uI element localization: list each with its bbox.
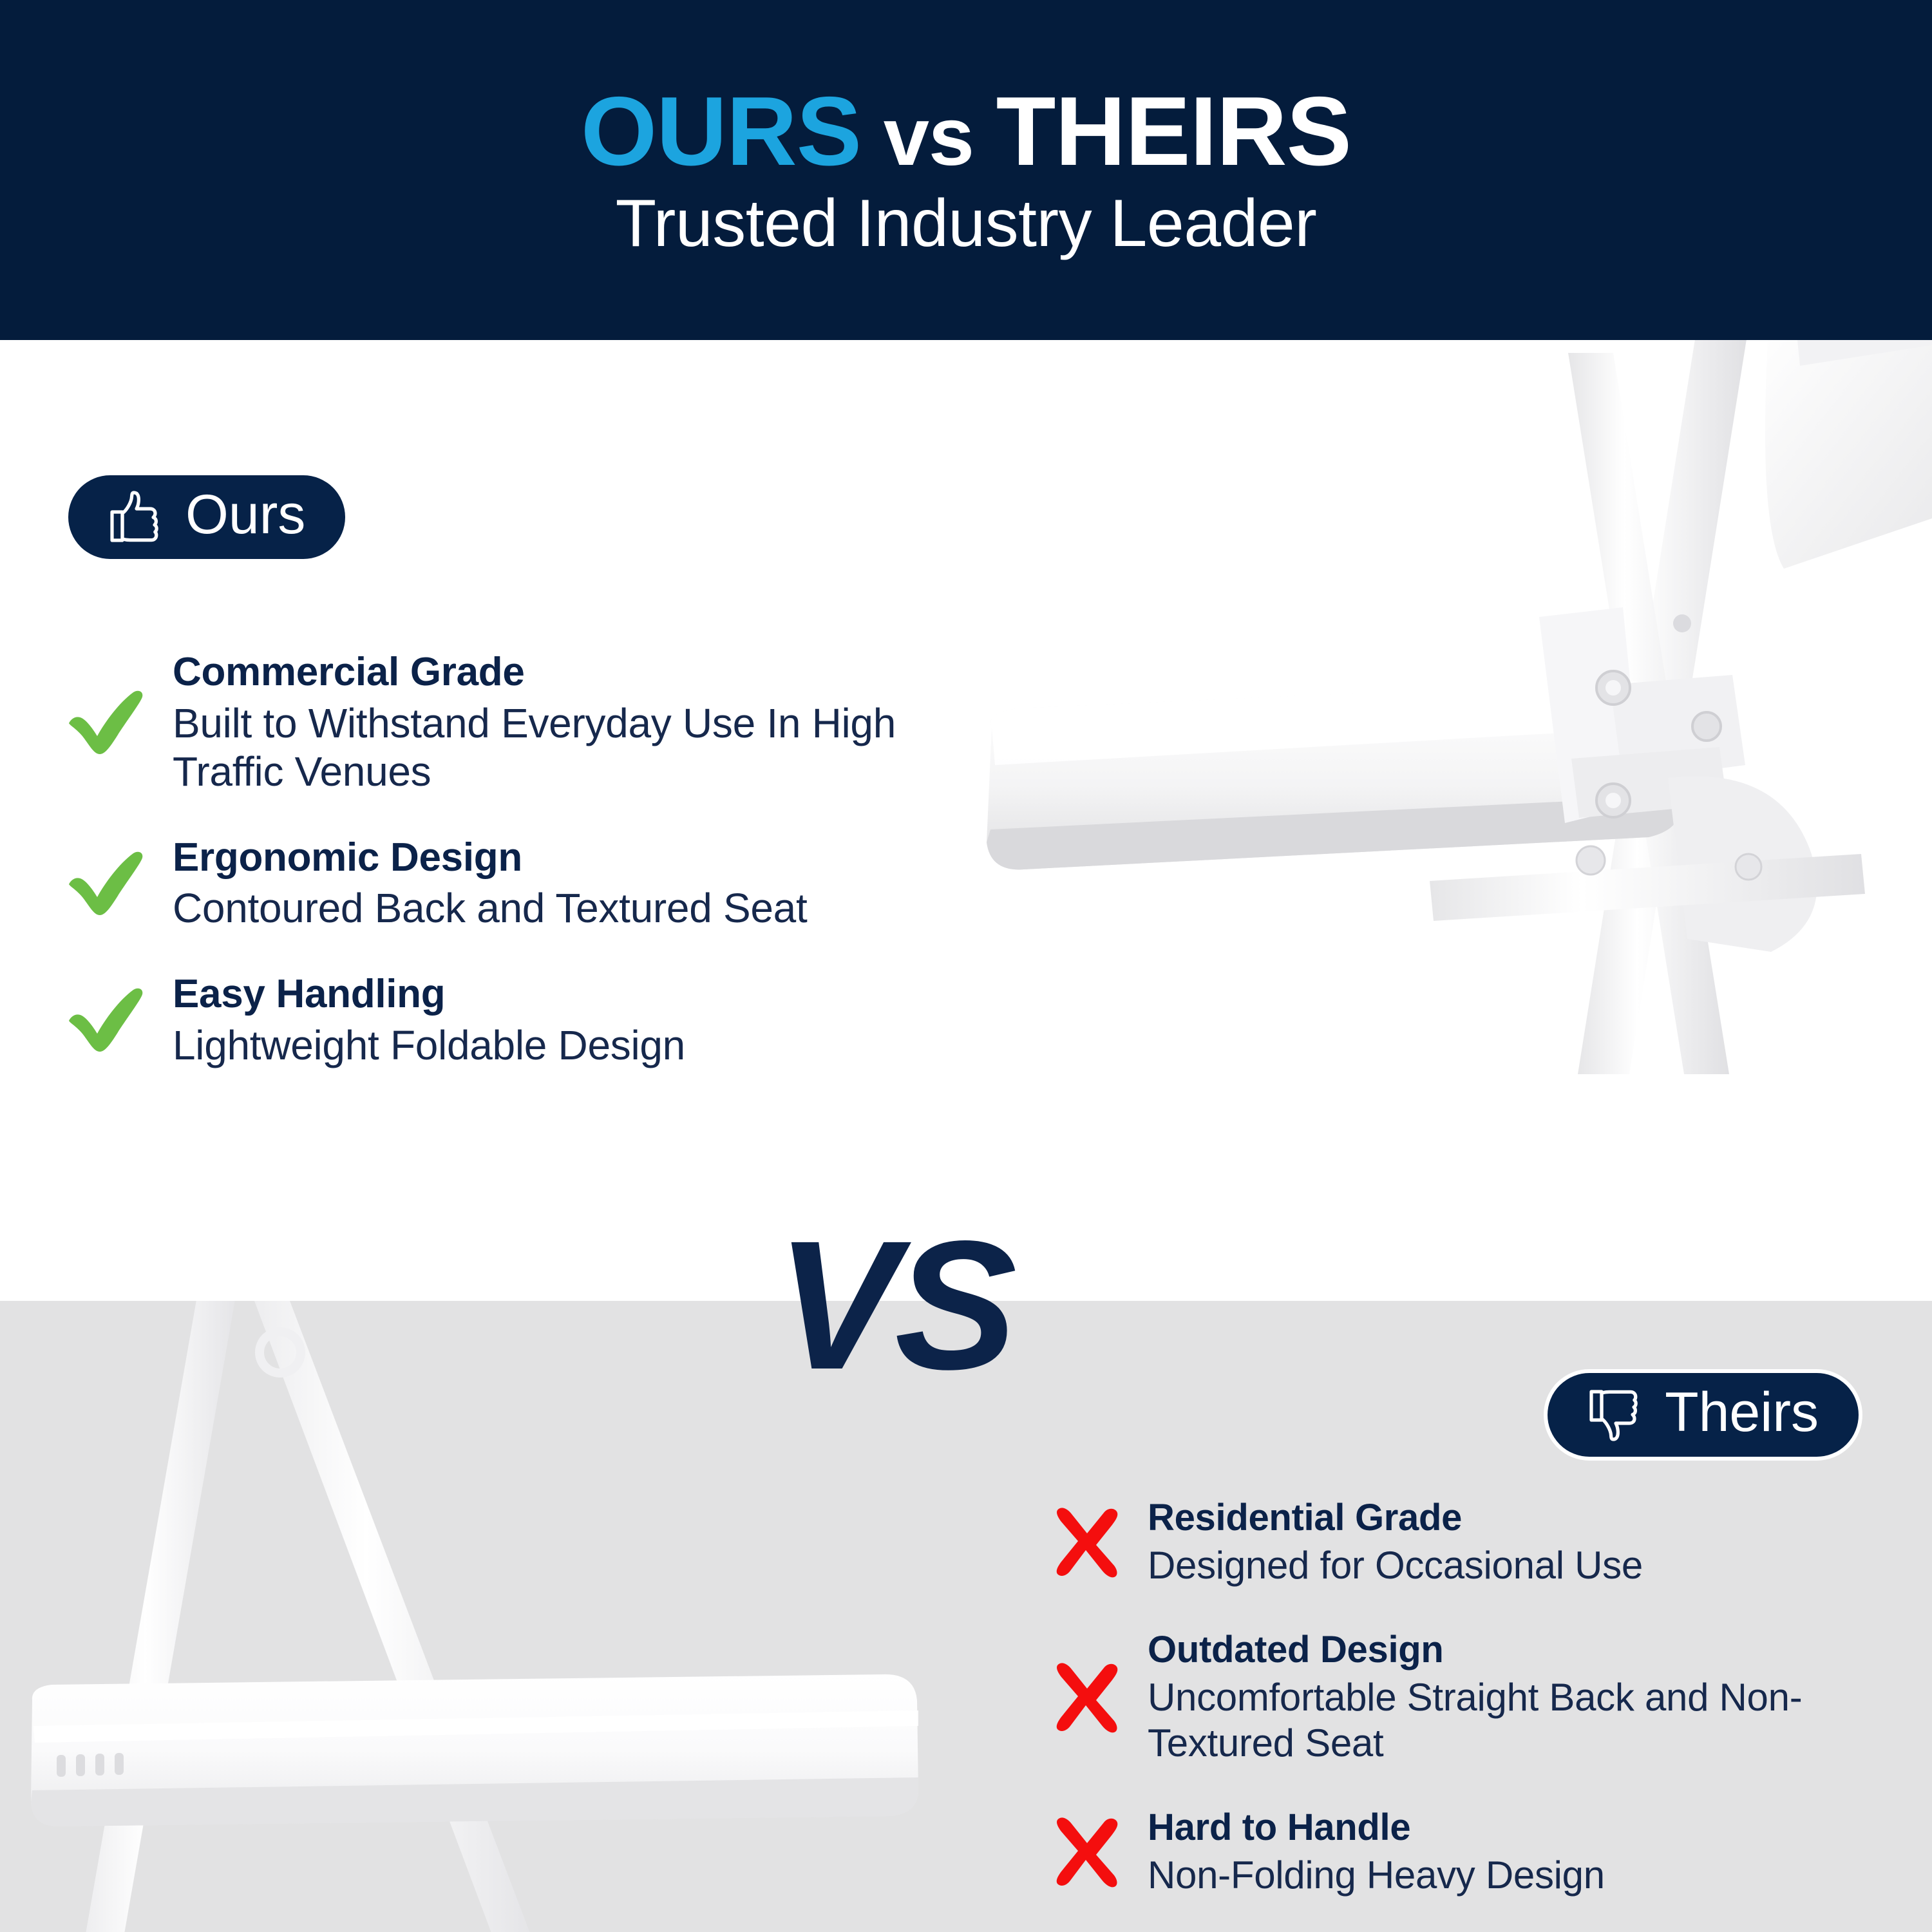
cross-icon [1050, 1504, 1124, 1578]
list-item: Residential Grade Designed for Occasiona… [1050, 1494, 1913, 1589]
feature-title: Outdated Design [1148, 1629, 1913, 1671]
title-vs: vs [861, 91, 996, 183]
feature-desc: Uncomfortable Straight Back and Non-Text… [1148, 1675, 1913, 1766]
check-icon [64, 983, 148, 1056]
list-item: Outdated Design Uncomfortable Straight B… [1050, 1626, 1913, 1766]
list-item-body: Commercial Grade Built to Withstand Ever… [173, 647, 914, 797]
title-theirs: THEIRS [996, 77, 1351, 186]
list-item: Easy Handling Lightweight Foldable Desig… [64, 969, 914, 1070]
theirs-badge-label: Theirs [1665, 1385, 1819, 1440]
feature-desc: Designed for Occasional Use [1148, 1543, 1913, 1589]
feature-title: Easy Handling [173, 972, 914, 1018]
feature-desc: Lightweight Foldable Design [173, 1021, 914, 1070]
cross-icon [1050, 1814, 1124, 1888]
check-icon [64, 686, 148, 758]
list-item-body: Hard to Handle Non-Folding Heavy Design [1148, 1804, 1913, 1899]
feature-title: Commercial Grade [173, 650, 914, 696]
page-title: OURS vs THEIRS [581, 80, 1351, 182]
ours-badge[interactable]: Ours [68, 475, 345, 559]
thumbs-up-icon [102, 486, 164, 548]
feature-title: Residential Grade [1148, 1497, 1913, 1539]
list-item-body: Easy Handling Lightweight Foldable Desig… [173, 969, 914, 1070]
feature-desc: Non-Folding Heavy Design [1148, 1853, 1913, 1899]
feature-desc: Built to Withstand Everyday Use In High … [173, 699, 914, 797]
feature-title: Hard to Handle [1148, 1806, 1913, 1849]
title-ours: OURS [581, 77, 861, 186]
header-banner: OURS vs THEIRS Trusted Industry Leader [0, 0, 1932, 340]
list-item: Commercial Grade Built to Withstand Ever… [64, 647, 914, 797]
vs-divider-label: VS [776, 1214, 1013, 1397]
list-item-body: Residential Grade Designed for Occasiona… [1148, 1494, 1913, 1589]
check-icon [64, 847, 148, 919]
ours-badge-label: Ours [185, 487, 305, 542]
list-item: Hard to Handle Non-Folding Heavy Design [1050, 1804, 1913, 1899]
feature-title: Ergonomic Design [173, 835, 914, 881]
theirs-feature-list: Residential Grade Designed for Occasiona… [1050, 1494, 1913, 1932]
cross-icon [1050, 1659, 1124, 1734]
page-subtitle: Trusted Industry Leader [616, 189, 1317, 259]
theirs-badge[interactable]: Theirs [1544, 1369, 1862, 1461]
comparison-infographic: OURS vs THEIRS Trusted Industry Leader O… [0, 0, 1932, 1932]
list-item: Ergonomic Design Contoured Back and Text… [64, 833, 914, 933]
feature-desc: Contoured Back and Textured Seat [173, 884, 914, 933]
thumbs-down-icon [1581, 1384, 1643, 1446]
list-item-body: Ergonomic Design Contoured Back and Text… [173, 833, 914, 933]
list-item-body: Outdated Design Uncomfortable Straight B… [1148, 1626, 1913, 1766]
ours-feature-list: Commercial Grade Built to Withstand Ever… [64, 647, 914, 1070]
ours-chair-photo [831, 340, 1932, 1301]
